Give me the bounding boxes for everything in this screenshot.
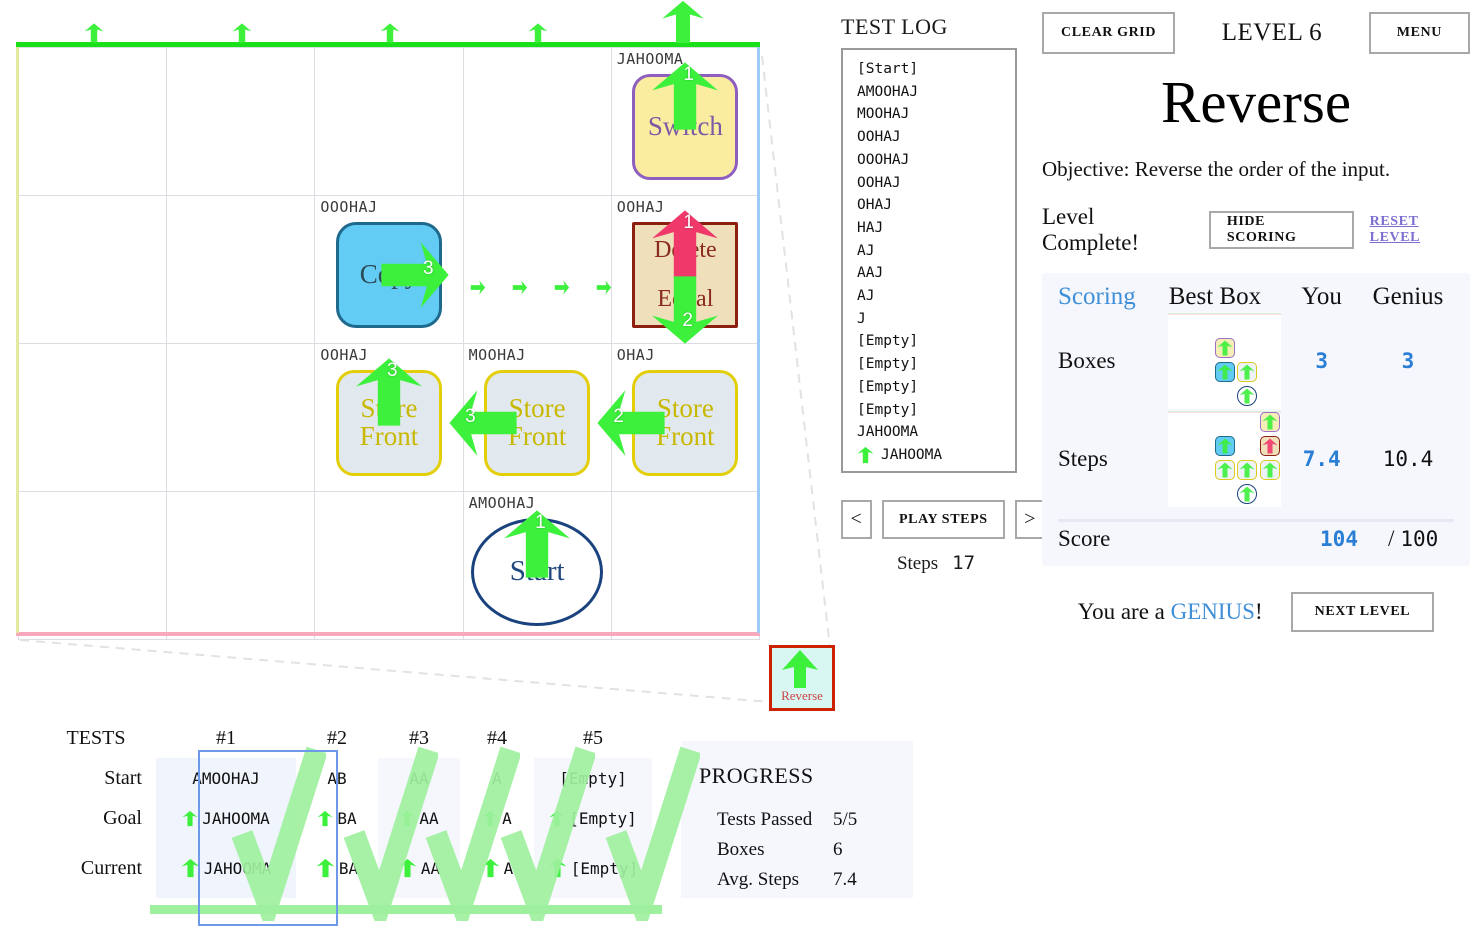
test-log-panel: TEST LOG [Start]AMOOHAJMOOHAJOOHAJOOOHAJ… xyxy=(841,14,1021,473)
tests-cell-content: [Empty] xyxy=(534,809,652,828)
test-log-line: JAHOOMA xyxy=(857,421,1015,444)
grid-cell-value-label: AMOOHAJ xyxy=(469,494,536,512)
scoring-row-boxes: Boxes 3 3 xyxy=(1058,313,1454,409)
grid-cell-r3c3[interactable]: AMOOHAJStart1 xyxy=(463,492,611,640)
page-title: Reverse xyxy=(1042,70,1470,135)
tests-cell-current: [Empty] xyxy=(534,838,652,898)
program-grid[interactable]: JAHOOMASwitch1OOOHAJCopy3OOHAJDeleteIfEq… xyxy=(18,47,760,635)
grid-cell-r2c2[interactable]: OOHAJStoreFront3 xyxy=(315,344,463,492)
tests-cell-value: BA xyxy=(339,859,358,878)
right-arrow-icon xyxy=(596,280,612,295)
up-arrow-icon xyxy=(380,20,400,46)
tests-panel: TESTS#1#2#3#4#5StartAMOOHAJABAAA[Empty]G… xyxy=(50,718,670,898)
up-arrow-icon xyxy=(528,20,548,46)
grid-input-arrow-3 xyxy=(380,20,400,51)
scoring-row-boxes-label: Boxes xyxy=(1058,348,1168,374)
test-log-line: OOOHAJ xyxy=(857,149,1015,172)
scoring-row-boxes-thumb[interactable] xyxy=(1168,313,1281,409)
steps-counter: Steps17 xyxy=(841,552,1031,575)
up-arrow-icon xyxy=(770,646,830,692)
test-log-line: [Empty] xyxy=(857,353,1015,376)
grid-cell-value-label: JAHOOMA xyxy=(617,50,684,68)
test-log-current-value: JAHOOMA xyxy=(881,444,942,467)
flow-arrow-number: 2 xyxy=(613,407,624,426)
reverse-chip-label: Reverse xyxy=(772,688,832,704)
test-log-line: HAJ xyxy=(857,217,1015,240)
scoring-row-boxes-you: 3 xyxy=(1281,349,1362,373)
program-grid-table: JAHOOMASwitch1OOOHAJCopy3OOHAJDeleteIfEq… xyxy=(18,47,760,640)
scoring-row-steps-label: Steps xyxy=(1058,446,1168,472)
test-log-line: [Start] xyxy=(857,58,1015,81)
grid-box-label: StoreFront xyxy=(656,395,715,450)
tests-cell-current: JAHOOMA xyxy=(156,838,296,898)
clear-grid-button[interactable]: CLEAR GRID xyxy=(1042,12,1175,54)
test-log-line: [Empty] xyxy=(857,399,1015,422)
up-arrow-icon xyxy=(181,857,200,879)
test-log-line: AJ xyxy=(857,285,1015,308)
tests-cell-content: JAHOOMA xyxy=(156,809,296,828)
up-arrow-icon xyxy=(481,857,500,879)
grid-cell-value-label: OOHAJ xyxy=(320,346,368,364)
grid-cell-r2c3[interactable]: MOOHAJStoreFront3 xyxy=(463,344,611,492)
mini-grid-box-delete xyxy=(1260,436,1280,456)
tests-pass-bar xyxy=(150,905,662,914)
grid-cell-r0c4[interactable]: JAHOOMASwitch1 xyxy=(611,48,759,196)
level-toolbar: CLEAR GRID LEVEL 6 MENU xyxy=(1042,10,1470,56)
mini-grid-box-switch xyxy=(1260,412,1280,432)
right-arrow-icon xyxy=(554,280,570,295)
progress-item-value: 6 xyxy=(833,839,843,861)
grid-row: AMOOHAJStart1 xyxy=(19,492,760,640)
grid-left-edge xyxy=(16,47,19,633)
scoring-col-title: Scoring xyxy=(1058,283,1169,311)
tests-cell-goal: BA xyxy=(296,798,378,838)
scoring-row-steps-thumb[interactable] xyxy=(1168,411,1281,507)
tests-cell-value: AA xyxy=(421,859,440,878)
level-indicator: LEVEL 6 xyxy=(1222,19,1322,47)
up-arrow-icon xyxy=(182,809,198,828)
test-log-line: MOOHAJ xyxy=(857,103,1015,126)
tests-cell-value: [Empty] xyxy=(571,859,638,878)
tests-header-row: TESTS#1#2#3#4#5 xyxy=(50,718,652,758)
up-arrow-icon xyxy=(232,20,252,46)
tests-cell-current: AA xyxy=(378,838,460,898)
tests-cell-content: A xyxy=(460,857,534,879)
up-arrow-icon xyxy=(548,857,567,879)
grid-cell-r3c1[interactable] xyxy=(167,492,315,640)
grid-row: OOOHAJCopy3OOHAJDeleteIfEqual12 xyxy=(19,196,760,344)
score-total-label: Score xyxy=(1058,526,1176,552)
tests-cell-value: BA xyxy=(337,809,356,828)
tests-cell-start: A xyxy=(460,758,534,798)
flow-arrow-number: 1 xyxy=(683,65,694,84)
grid-box-label: StoreFront xyxy=(508,395,567,450)
genius-suffix: ! xyxy=(1255,599,1263,624)
test-log-list[interactable]: [Start]AMOOHAJMOOHAJOOHAJOOOHAJOOHAJOHAJ… xyxy=(841,48,1017,473)
scoring-col-you: You xyxy=(1281,283,1362,311)
test-log-line: OOHAJ xyxy=(857,126,1015,149)
grid-cell-value-label: MOOHAJ xyxy=(469,346,526,364)
flow-path-dots xyxy=(470,280,630,296)
grid-cell-r3c4[interactable] xyxy=(611,492,759,640)
up-arrow-icon xyxy=(857,445,874,465)
grid-box-store[interactable]: StoreFront3 xyxy=(336,370,442,476)
step-prev-button[interactable]: < xyxy=(841,500,872,539)
up-arrow-icon xyxy=(399,809,415,828)
tests-title: TESTS xyxy=(50,718,156,758)
progress-title: PROGRESS xyxy=(699,763,813,789)
tests-column-header[interactable]: #2 xyxy=(296,718,378,758)
genius-prefix: You are a xyxy=(1078,599,1171,624)
grid-row: JAHOOMASwitch1 xyxy=(19,48,760,196)
grid-box-store[interactable]: StoreFront3 xyxy=(484,370,590,476)
grid-box-label: StoreFront xyxy=(360,395,419,450)
hide-scoring-button[interactable]: HIDE SCORING xyxy=(1209,211,1354,249)
grid-cell-r3c0[interactable] xyxy=(19,492,167,640)
scoring-row-steps-you: 7.4 xyxy=(1281,447,1362,471)
scoring-total-row: Score 104 / 100 xyxy=(1058,526,1454,552)
scoring-card: Scoring Best Box You Genius Boxes 3 3 St… xyxy=(1042,273,1470,566)
tests-cell-value: JAHOOMA xyxy=(202,809,269,828)
grid-right-edge xyxy=(757,47,760,633)
play-steps-button[interactable]: PLAY STEPS xyxy=(882,500,1005,539)
right-arrow-icon xyxy=(470,280,486,295)
grid-cell-r2c1[interactable] xyxy=(167,344,315,492)
test-log-line: [Empty] xyxy=(857,330,1015,353)
menu-button[interactable]: MENU xyxy=(1369,12,1470,54)
mini-grid-box-start xyxy=(1237,484,1257,504)
reset-level-link[interactable]: RESET LEVEL xyxy=(1370,214,1470,246)
score-total-separator: / xyxy=(1382,526,1400,552)
test-log-line: AAJ xyxy=(857,262,1015,285)
scoring-row-steps: Steps 7.4 10.4 xyxy=(1058,411,1454,507)
progress-item-label: Avg. Steps xyxy=(717,869,799,891)
tests-column-header[interactable]: #3 xyxy=(378,718,460,758)
grid-box-store[interactable]: StoreFront2 xyxy=(632,370,738,476)
tests-row-current: CurrentJAHOOMABAAAA[Empty] xyxy=(50,838,652,898)
grid-cell-r2c0[interactable] xyxy=(19,344,167,492)
test-log-title: TEST LOG xyxy=(841,14,1021,40)
tests-cell-goal: [Empty] xyxy=(534,798,652,838)
tests-cell-goal: JAHOOMA xyxy=(156,798,296,838)
reverse-level-chip[interactable]: Reverse xyxy=(769,645,835,711)
tests-cell-content: BA xyxy=(296,857,378,879)
genius-word: GENIUS xyxy=(1171,599,1255,624)
grid-input-arrow-2 xyxy=(232,20,252,51)
tests-row-label: Current xyxy=(50,838,156,898)
grid-cell-r2c4[interactable]: OHAJStoreFront2 xyxy=(611,344,759,492)
mini-grid-box-store xyxy=(1237,460,1257,480)
up-arrow-icon xyxy=(317,809,333,828)
grid-cell-r0c1[interactable] xyxy=(167,48,315,196)
tests-cell-start: AB xyxy=(296,758,378,798)
grid-input-arrow-5 xyxy=(660,0,706,49)
tests-cell-value: [Empty] xyxy=(569,809,636,828)
tests-column-header[interactable]: #5 xyxy=(534,718,652,758)
grid-input-arrow-4 xyxy=(528,20,548,51)
progress-item-label: Tests Passed xyxy=(717,809,812,831)
grid-box-label: Switch xyxy=(648,113,723,141)
test-log-line: OHAJ xyxy=(857,194,1015,217)
grid-box-switch[interactable]: Switch1 xyxy=(632,74,738,180)
up-arrow-icon xyxy=(660,0,706,44)
tests-cell-content: A xyxy=(460,809,534,828)
flow-arrow-number: 1 xyxy=(535,513,546,532)
steps-counter-value: 17 xyxy=(952,552,975,574)
flow-arrow-number: 3 xyxy=(465,407,476,426)
mini-grid-box-copy xyxy=(1215,436,1235,456)
tests-cell-content: JAHOOMA xyxy=(156,857,296,879)
mini-grid-box-store xyxy=(1260,460,1280,480)
tests-row-start: StartAMOOHAJABAAA[Empty] xyxy=(50,758,652,798)
score-total-max: 100 xyxy=(1400,527,1438,551)
grid-cell-r1c0[interactable] xyxy=(19,196,167,344)
next-level-button[interactable]: NEXT LEVEL xyxy=(1291,592,1435,632)
test-log-line: J xyxy=(857,308,1015,331)
up-arrow-icon xyxy=(482,809,498,828)
score-total-you: 104 xyxy=(1296,527,1382,551)
flow-arrow-number: 3 xyxy=(423,259,434,278)
grid-input-arrow-1 xyxy=(84,20,104,51)
scoring-row-boxes-genius: 3 xyxy=(1362,349,1454,373)
right-arrow-icon xyxy=(512,280,528,295)
genius-row: You are a GENIUS! NEXT LEVEL xyxy=(1042,592,1470,632)
test-log-line: AJ xyxy=(857,240,1015,263)
grid-box-delete[interactable]: DeleteIfEqual12 xyxy=(632,222,738,328)
grid-box-label: Copy xyxy=(360,261,419,289)
tests-cell-goal: A xyxy=(460,798,534,838)
mini-grid-box-copy xyxy=(1215,362,1235,382)
tests-cell-content: AA xyxy=(378,809,460,828)
grid-cell-r0c2[interactable] xyxy=(315,48,463,196)
level-status-text: Level Complete! xyxy=(1042,204,1193,256)
scoring-header-row: Scoring Best Box You Genius xyxy=(1058,283,1454,311)
test-log-line: [Empty] xyxy=(857,376,1015,399)
up-arrow-icon xyxy=(398,857,417,879)
mini-grid-box-store xyxy=(1215,460,1235,480)
grid-box-copy[interactable]: Copy3 xyxy=(336,222,442,328)
tests-column-header[interactable]: #1 xyxy=(156,718,296,758)
grid-cell-r1c3[interactable] xyxy=(463,196,611,344)
up-arrow-icon xyxy=(316,857,335,879)
tests-cell-content: BA xyxy=(296,809,378,828)
progress-item-value: 5/5 xyxy=(833,809,857,831)
progress-item-value: 7.4 xyxy=(833,869,857,891)
grid-cell-r0c3[interactable] xyxy=(463,48,611,196)
grid-cell-r1c2[interactable]: OOOHAJCopy3 xyxy=(315,196,463,344)
status-row: Level Complete! HIDE SCORING RESET LEVEL xyxy=(1042,204,1470,256)
tests-cell-current: A xyxy=(460,838,534,898)
test-log-current-line: JAHOOMA xyxy=(857,444,1015,467)
tests-cell-content: AA xyxy=(378,857,460,879)
steps-counter-label: Steps xyxy=(897,553,938,574)
tests-cell-value: AA xyxy=(419,809,438,828)
test-log-line: OOHAJ xyxy=(857,172,1015,195)
grid-box-label: Start xyxy=(510,557,565,587)
tests-cell-goal: AA xyxy=(378,798,460,838)
objective-text: Objective: Reverse the order of the inpu… xyxy=(1042,157,1470,182)
flow-arrow-number: 2 xyxy=(682,311,693,330)
tests-cell-start: [Empty] xyxy=(534,758,652,798)
genius-message: You are a GENIUS! xyxy=(1078,599,1263,625)
up-arrow-icon xyxy=(84,20,104,46)
mini-grid-box-start xyxy=(1237,386,1257,406)
scoring-col-genius: Genius xyxy=(1362,283,1454,311)
grid-box-start[interactable]: Start1 xyxy=(471,518,603,626)
grid-row: OOHAJStoreFront3MOOHAJStoreFront3OHAJSto… xyxy=(19,344,760,492)
grid-cell-value-label: OOHAJ xyxy=(617,198,665,216)
grid-cell-r3c2[interactable] xyxy=(315,492,463,640)
progress-panel: PROGRESS Tests Passed5/5Boxes6Avg. Steps… xyxy=(681,741,913,898)
tests-row-goal: GoalJAHOOMABAAAA[Empty] xyxy=(50,798,652,838)
grid-cell-r0c0[interactable] xyxy=(19,48,167,196)
grid-cell-r1c4[interactable]: OOHAJDeleteIfEqual12 xyxy=(611,196,759,344)
up-arrow-icon xyxy=(549,809,565,828)
tests-cell-value: JAHOOMA xyxy=(204,859,271,878)
scoring-divider xyxy=(1058,519,1454,522)
grid-cell-value-label: OOOHAJ xyxy=(320,198,377,216)
flow-arrow-number: 1 xyxy=(683,213,694,232)
tests-cell-content: [Empty] xyxy=(534,857,652,879)
tests-column-header[interactable]: #4 xyxy=(460,718,534,758)
grid-box-label: DeleteIfEqual xyxy=(654,238,717,311)
progress-item-label: Boxes xyxy=(717,839,765,861)
tests-cell-start: AMOOHAJ xyxy=(156,758,296,798)
grid-cell-r1c1[interactable] xyxy=(167,196,315,344)
tests-row-label: Start xyxy=(50,758,156,798)
test-log-line: AMOOHAJ xyxy=(857,81,1015,104)
tests-cell-value: A xyxy=(504,859,514,878)
tests-cell-value: A xyxy=(502,809,512,828)
grid-cell-value-label: OHAJ xyxy=(617,346,655,364)
tests-cell-start: AA xyxy=(378,758,460,798)
playback-controls[interactable]: < PLAY STEPS > xyxy=(841,500,1046,539)
flow-arrow-number: 3 xyxy=(387,361,398,380)
mini-grid-box-switch xyxy=(1215,338,1235,358)
scoring-col-bestbox: Best Box xyxy=(1169,283,1282,311)
tests-table: TESTS#1#2#3#4#5StartAMOOHAJABAAA[Empty]G… xyxy=(50,718,652,898)
tests-cell-current: BA xyxy=(296,838,378,898)
step-next-button[interactable]: > xyxy=(1015,500,1046,539)
level-panel: CLEAR GRID LEVEL 6 MENU Reverse Objectiv… xyxy=(1042,10,1470,632)
mini-grid-box-store xyxy=(1237,362,1257,382)
grid-bottom-edge xyxy=(16,632,760,636)
tests-row-label: Goal xyxy=(50,798,156,838)
scoring-row-steps-genius: 10.4 xyxy=(1362,447,1454,471)
